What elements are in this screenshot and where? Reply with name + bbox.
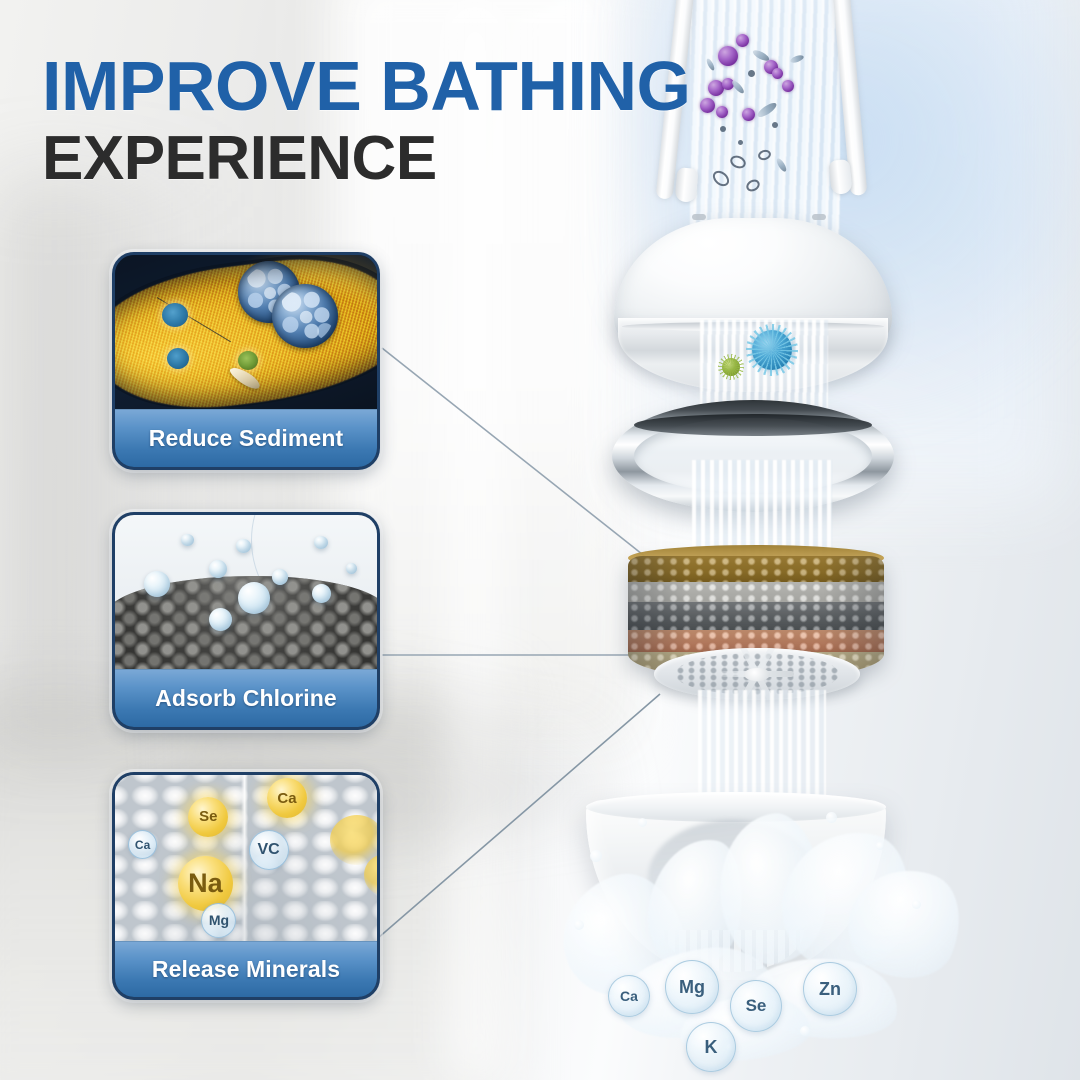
mineral-bubble-se: Se (730, 980, 782, 1032)
headline-line-1: IMPROVE BATHING (42, 52, 690, 121)
feature-card-label-reduce-sediment: Reduce Sediment (115, 409, 377, 467)
mineral-chip-label: Mg (209, 913, 229, 927)
mineral-bubble-label: Se (746, 996, 767, 1016)
mineral-bubble-label: K (705, 1037, 718, 1058)
mineral-bubble-k: K (686, 1022, 736, 1072)
mineral-bubble-label: Mg (679, 977, 705, 998)
mineral-bubble-zn: Zn (803, 962, 857, 1016)
chlorine-bubble (346, 563, 357, 574)
page-title: IMPROVE BATHING EXPERIENCE (42, 52, 690, 189)
chlorine-bubble (312, 584, 331, 603)
mineral-bubble-label: Zn (819, 979, 841, 1000)
mineral-bubble-mg: Mg (665, 960, 719, 1014)
sediment-micrograph (115, 255, 377, 415)
chlorine-bubble (236, 539, 251, 553)
mineral-chip-label: Ca (135, 839, 150, 851)
chlorine-bubble (209, 560, 227, 578)
mineral-bead-illustration: Ca Se Na Ca VC Mg (115, 775, 377, 943)
chlorine-bubble (144, 571, 170, 597)
feature-card-reduce-sediment[interactable]: Reduce Sediment (112, 252, 380, 470)
mineral-chip-mg: Mg (201, 903, 236, 938)
mineral-chip-vc: VC (249, 830, 289, 870)
background-blue-tint (640, 0, 1080, 400)
mineral-chip-se: Se (188, 797, 228, 837)
mineral-chip-label: Se (199, 809, 217, 824)
chlorine-bubble (181, 534, 194, 546)
mineral-bubble-label: Ca (620, 988, 638, 1004)
feature-card-adsorb-chlorine[interactable]: Adsorb Chlorine (112, 512, 380, 730)
mineral-bubble-ca: Ca (608, 975, 650, 1017)
mineral-chip-label: Ca (277, 791, 296, 806)
feature-card-label-release-minerals: Release Minerals (115, 941, 377, 997)
feature-card-label-adsorb-chlorine: Adsorb Chlorine (115, 669, 377, 727)
chlorine-bubble (209, 608, 232, 631)
headline-line-2: EXPERIENCE (42, 129, 690, 190)
chlorine-bubble (314, 536, 328, 549)
mineral-chip-na: Na (178, 856, 233, 911)
feature-card-release-minerals[interactable]: Ca Se Na Ca VC Mg Release Minerals (112, 772, 380, 1000)
mineral-shading (115, 775, 377, 943)
carbon-bead-illustration (115, 515, 377, 675)
infographic-stage: IMPROVE BATHING EXPERIENCE (0, 0, 1080, 1080)
mineral-chip-label: Na (188, 870, 223, 897)
mineral-chip-label: VC (257, 842, 279, 858)
